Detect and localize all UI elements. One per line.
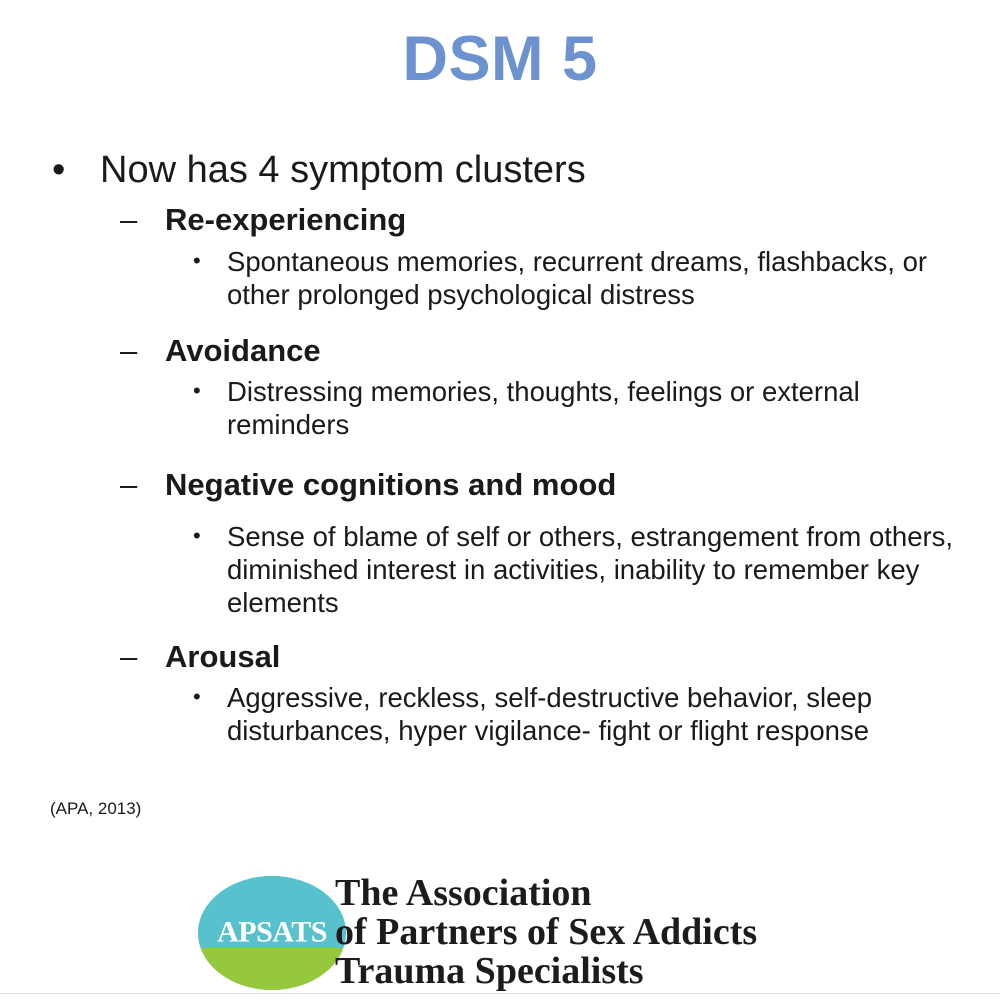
bullet-dot-icon: • [52,148,65,192]
cluster-detail-re-experiencing: • Spontaneous memories, recurrent dreams… [0,245,1000,311]
cluster-heading-negative-cognitions-and-mood: – Negative cognitions and mood [0,467,1000,504]
dash-marker-icon: – [120,639,137,676]
cluster-heading-text: Avoidance [165,333,321,368]
source-citation: (APA, 2013) [50,799,141,819]
cluster-detail-avoidance: • Distressing memories, thoughts, feelin… [0,375,1000,441]
cluster-detail-negative-cognitions-and-mood: • Sense of blame of self or others, estr… [0,520,1000,619]
cluster-detail-text: Aggressive, reckless, self-destructive b… [227,682,872,746]
cluster-heading-avoidance: – Avoidance [0,333,1000,370]
outline-level1-item: • Now has 4 symptom clusters [0,148,1000,192]
cluster-heading-text: Negative cognitions and mood [165,467,616,502]
cluster-heading-text: Arousal [165,639,280,674]
cluster-detail-text: Sense of blame of self or others, estran… [227,521,953,618]
dash-marker-icon: – [120,202,137,239]
logo-line-1: The Association [335,874,757,913]
apsats-badge-icon: APSATS [198,876,346,990]
page-title: DSM 5 [0,26,1000,92]
content-outline: • Now has 4 symptom clusters – Re-experi… [0,148,1000,747]
outline-level1-text: Now has 4 symptom clusters [100,149,586,191]
badge-bottom-half [198,948,346,990]
bullet-dot-icon: • [193,375,201,406]
bottom-divider [0,993,1000,994]
bullet-dot-icon: • [193,520,201,551]
cluster-detail-text: Spontaneous memories, recurrent dreams, … [227,246,927,310]
logo-line-2: of Partners of Sex Addicts [335,913,757,952]
cluster-heading-arousal: – Arousal [0,639,1000,676]
logo-line-3: Trauma Specialists [335,952,757,991]
logo-wordmark: The Association of Partners of Sex Addic… [335,874,757,991]
bullet-dot-icon: • [193,245,201,276]
bullet-dot-icon: • [193,681,201,712]
dash-marker-icon: – [120,467,137,504]
slide-canvas: DSM 5 • Now has 4 symptom clusters – Re-… [0,0,1000,1000]
dash-marker-icon: – [120,333,137,370]
badge-acronym-text: APSATS [198,917,346,947]
cluster-heading-text: Re-experiencing [165,202,406,237]
cluster-detail-arousal: • Aggressive, reckless, self-destructive… [0,681,1000,747]
apsats-logo: APSATS The Association of Partners of Se… [198,876,846,992]
cluster-heading-re-experiencing: – Re-experiencing [0,202,1000,239]
cluster-detail-text: Distressing memories, thoughts, feelings… [227,376,860,440]
